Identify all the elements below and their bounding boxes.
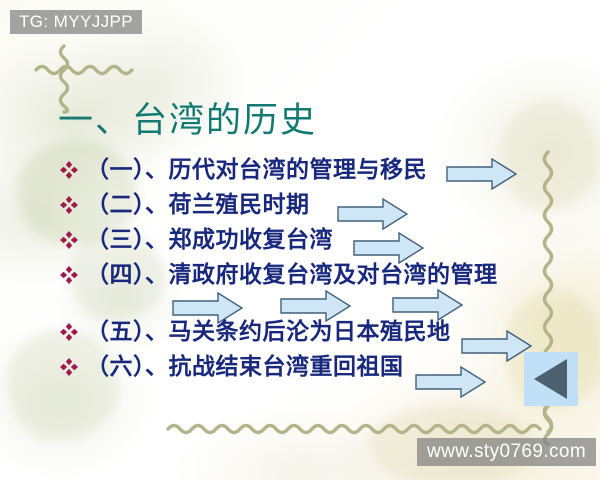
list-item[interactable]: （二）、荷兰殖民时期 <box>58 187 578 222</box>
list-item[interactable]: （三）、郑成功收复台湾 <box>58 222 578 257</box>
list-item-label: （一）、历代对台湾的管理与移民 <box>86 158 427 181</box>
list-item-label: （二）、荷兰殖民时期 <box>86 193 310 216</box>
list-item[interactable]: （六）、抗战结束台湾重回祖国 <box>58 349 578 384</box>
list-item-label: （五）、马关条约后沦为日本殖民地 <box>86 320 451 343</box>
slide-title: 一、台湾的历史 <box>58 92 317 143</box>
list-item-label: （四）、清政府收复台湾及对台湾的管理 <box>86 263 498 286</box>
list-item-label: （三）、郑成功收复台湾 <box>86 228 333 251</box>
diamond-cluster-bullet-icon <box>58 321 80 343</box>
diamond-cluster-bullet-icon <box>58 194 80 216</box>
list-item[interactable]: （四）、清政府收复台湾及对台湾的管理 <box>58 257 578 292</box>
list-item[interactable]: （五）、马关条约后沦为日本殖民地 <box>58 314 578 349</box>
back-navigation-button[interactable] <box>524 352 578 406</box>
squiggle-top-horizontal <box>34 58 144 78</box>
presentation-slide: 一、台湾的历史 <box>0 0 600 480</box>
diamond-cluster-bullet-icon <box>58 159 80 181</box>
list-item-label: （六）、抗战结束台湾重回祖国 <box>86 355 404 378</box>
triangle-left-icon <box>534 359 567 399</box>
diamond-cluster-bullet-icon <box>58 264 80 286</box>
list-item[interactable]: （一）、历代对台湾的管理与移民 <box>58 152 578 187</box>
diamond-cluster-bullet-icon <box>58 356 80 378</box>
bullet-list: （一）、历代对台湾的管理与移民 （二）、荷兰殖民时期 <box>58 152 578 384</box>
squiggle-bottom-horizontal <box>166 417 556 437</box>
watermark-top-left: TG: MYYJJPP <box>10 10 142 34</box>
watermark-bottom-right: www.sty0769.com <box>417 438 596 466</box>
diamond-cluster-bullet-icon <box>58 229 80 251</box>
